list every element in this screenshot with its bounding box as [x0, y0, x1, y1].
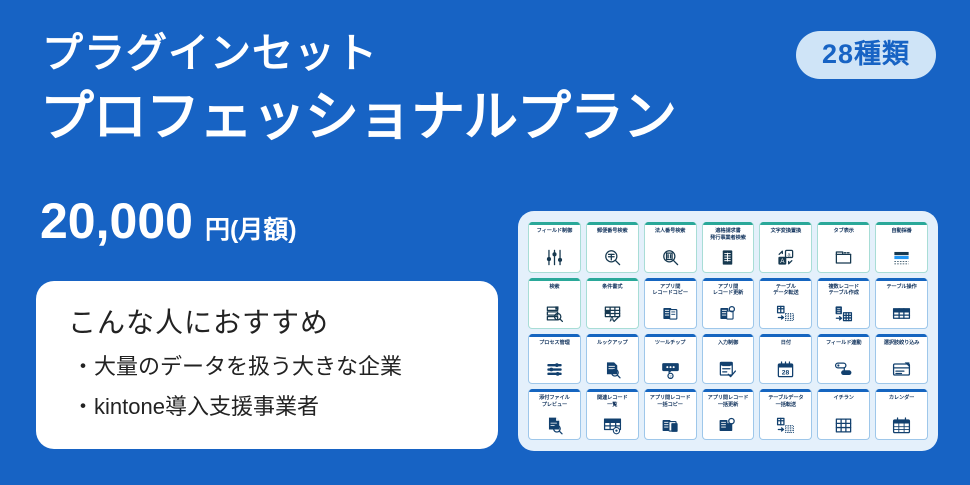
plugin-tile-label: テーブルデータ転送	[761, 284, 810, 297]
plugin-tile[interactable]: 郵便番号検索	[586, 222, 639, 273]
sliders-icon	[543, 248, 565, 268]
recommendation-title: こんな人におすすめ	[68, 301, 329, 341]
file-preview-icon	[543, 415, 565, 435]
calendar-28-icon: 28	[775, 359, 797, 379]
plugin-tile-label: タブ表示	[819, 228, 868, 235]
plugin-tile[interactable]: テーブル操作	[875, 278, 928, 329]
field-link-icon	[833, 359, 855, 379]
plugin-tile-label: テーブルデータ一括転送	[761, 395, 810, 408]
plugin-tile-label: 郵便番号検索	[588, 228, 637, 235]
plugin-tile[interactable]: プロセス管理	[528, 334, 581, 385]
table-bulk-transfer-icon	[775, 415, 797, 435]
plugin-tile-label: 関連レコード一覧	[588, 395, 637, 408]
plugin-tile-label: 検索	[530, 284, 579, 291]
plugin-tile-label: 条件書式	[588, 284, 637, 291]
plugin-tile[interactable]: アプリ間レコード一括コピー	[644, 389, 697, 440]
plugin-tile[interactable]: フィールド制御	[528, 222, 581, 273]
plugin-grid: フィールド制御郵便番号検索法人番号検索適格請求書発行事業者検索文字変換置換Aaタ…	[528, 222, 928, 440]
plugin-tile[interactable]: テーブルデータ転送	[759, 278, 812, 329]
plugin-count-badge: 28種類	[796, 31, 936, 79]
plugin-tile[interactable]: イチラン	[817, 389, 870, 440]
plugin-tile-label: ツールチップ	[646, 340, 695, 347]
banner-left-column: プラグインセット プロフェッショナルプラン 20,000 円(月額) こんな人に…	[0, 0, 510, 485]
plugin-tile[interactable]: フィールド連動	[817, 334, 870, 385]
plugin-tile[interactable]: アプリ間レコード更新	[702, 278, 755, 329]
plugin-tile[interactable]: 関連レコード一覧	[586, 389, 639, 440]
lookup-icon	[601, 359, 623, 379]
record-bulk-update-icon	[717, 415, 739, 435]
magnifier-building-icon	[659, 248, 681, 268]
plugin-tile-label: カレンダー	[877, 395, 926, 402]
record-copy-icon	[659, 304, 681, 324]
plugin-tile[interactable]: 添付ファイルプレビュー	[528, 389, 581, 440]
plugin-tile[interactable]: アプリ間レコード一括更新	[702, 389, 755, 440]
tooltip-icon: ?	[659, 359, 681, 379]
plugin-tile[interactable]: 適格請求書発行事業者検索	[702, 222, 755, 273]
svg-text:28: 28	[782, 369, 790, 376]
pricing-banner: プラグインセット プロフェッショナルプラン 20,000 円(月額) こんな人に…	[0, 0, 970, 485]
plugin-tile[interactable]: ツールチップ?	[644, 334, 697, 385]
magnifier-postal-icon	[601, 248, 623, 268]
plugin-tile-label: アプリ間レコード更新	[704, 284, 753, 297]
recommendation-item: ・大量のデータを扱う大きな企業	[72, 349, 402, 381]
conditional-format-icon: A	[601, 304, 623, 324]
plugin-tile-label: 適格請求書発行事業者検索	[704, 228, 753, 241]
plugin-tile-label: 文字変換置換	[761, 228, 810, 235]
plugin-tile-label: アプリ間レコード一括更新	[704, 395, 753, 408]
plugin-tile[interactable]: 自動採番	[875, 222, 928, 273]
record-update-icon	[717, 304, 739, 324]
plugin-tile[interactable]: 条件書式A	[586, 278, 639, 329]
plugin-tile-label: イチラン	[819, 395, 868, 402]
input-check-icon	[717, 359, 739, 379]
plugin-tile[interactable]: 文字変換置換Aa	[759, 222, 812, 273]
record-search-icon	[543, 304, 565, 324]
banner-subtitle: プラグインセット	[42, 32, 378, 75]
multi-record-table-icon	[833, 304, 855, 324]
filter-select-icon	[891, 359, 913, 379]
plugin-tile[interactable]: 選択肢絞り込み	[875, 334, 928, 385]
calendar-icon	[891, 415, 913, 435]
plugin-tile-label: 自動採番	[877, 228, 926, 235]
invoice-document-icon	[717, 248, 739, 268]
plugin-tile-label: 添付ファイルプレビュー	[530, 395, 579, 408]
plugin-tile[interactable]: 法人番号検索	[644, 222, 697, 273]
plugin-tile-label: 選択肢絞り込み	[877, 340, 926, 347]
table-transfer-icon	[775, 304, 797, 324]
plugin-tile-label: 複数レコードテーブル作成	[819, 284, 868, 297]
plugin-tile-label: アプリ間レコードコピー	[646, 284, 695, 297]
price-unit: 円(月額)	[205, 218, 297, 243]
plugin-tile-label: ルックアップ	[588, 340, 637, 347]
plugin-tile-label: フィールド連動	[819, 340, 868, 347]
related-record-icon	[601, 415, 623, 435]
plugin-tile[interactable]: アプリ間レコードコピー	[644, 278, 697, 329]
plugin-tile[interactable]: 入力制御	[702, 334, 755, 385]
grid-list-icon	[833, 415, 855, 435]
plugin-tile-label: アプリ間レコード一括コピー	[646, 395, 695, 408]
record-bulk-copy-icon	[659, 415, 681, 435]
plugin-tile-label: 法人番号検索	[646, 228, 695, 235]
banner-title: プロフェッショナルプラン	[40, 88, 676, 147]
plugin-tile[interactable]: 検索	[528, 278, 581, 329]
plugin-tile[interactable]: カレンダー	[875, 389, 928, 440]
svg-text:?: ?	[669, 374, 671, 378]
price-amount: 20,000	[40, 196, 193, 246]
recommendation-item: ・kintone導入支援事業者	[72, 389, 319, 421]
plugin-tile-label: テーブル操作	[877, 284, 926, 291]
plugin-tile[interactable]: 複数レコードテーブル作成	[817, 278, 870, 329]
plugin-tile-label: フィールド制御	[530, 228, 579, 235]
plugin-tile[interactable]: テーブルデータ一括転送	[759, 389, 812, 440]
plugin-tile-label: 日付	[761, 340, 810, 347]
plugin-grid-panel: フィールド制御郵便番号検索法人番号検索適格請求書発行事業者検索文字変換置換Aaタ…	[518, 211, 938, 451]
process-lines-icon	[543, 359, 565, 379]
plugin-tile-label: 入力制御	[704, 340, 753, 347]
plugin-tile[interactable]: ルックアップ	[586, 334, 639, 385]
plugin-tile[interactable]: 日付28	[759, 334, 812, 385]
recommendation-card: こんな人におすすめ ・大量のデータを扱う大きな企業 ・kintone導入支援事業…	[36, 281, 498, 449]
tab-window-icon	[833, 248, 855, 268]
auto-number-icon	[891, 248, 913, 268]
text-convert-icon: Aa	[775, 248, 797, 268]
price-row: 20,000 円(月額)	[40, 196, 297, 246]
plugin-tile[interactable]: タブ表示	[817, 222, 870, 273]
table-edit-icon	[891, 304, 913, 324]
plugin-tile-label: プロセス管理	[530, 340, 579, 347]
